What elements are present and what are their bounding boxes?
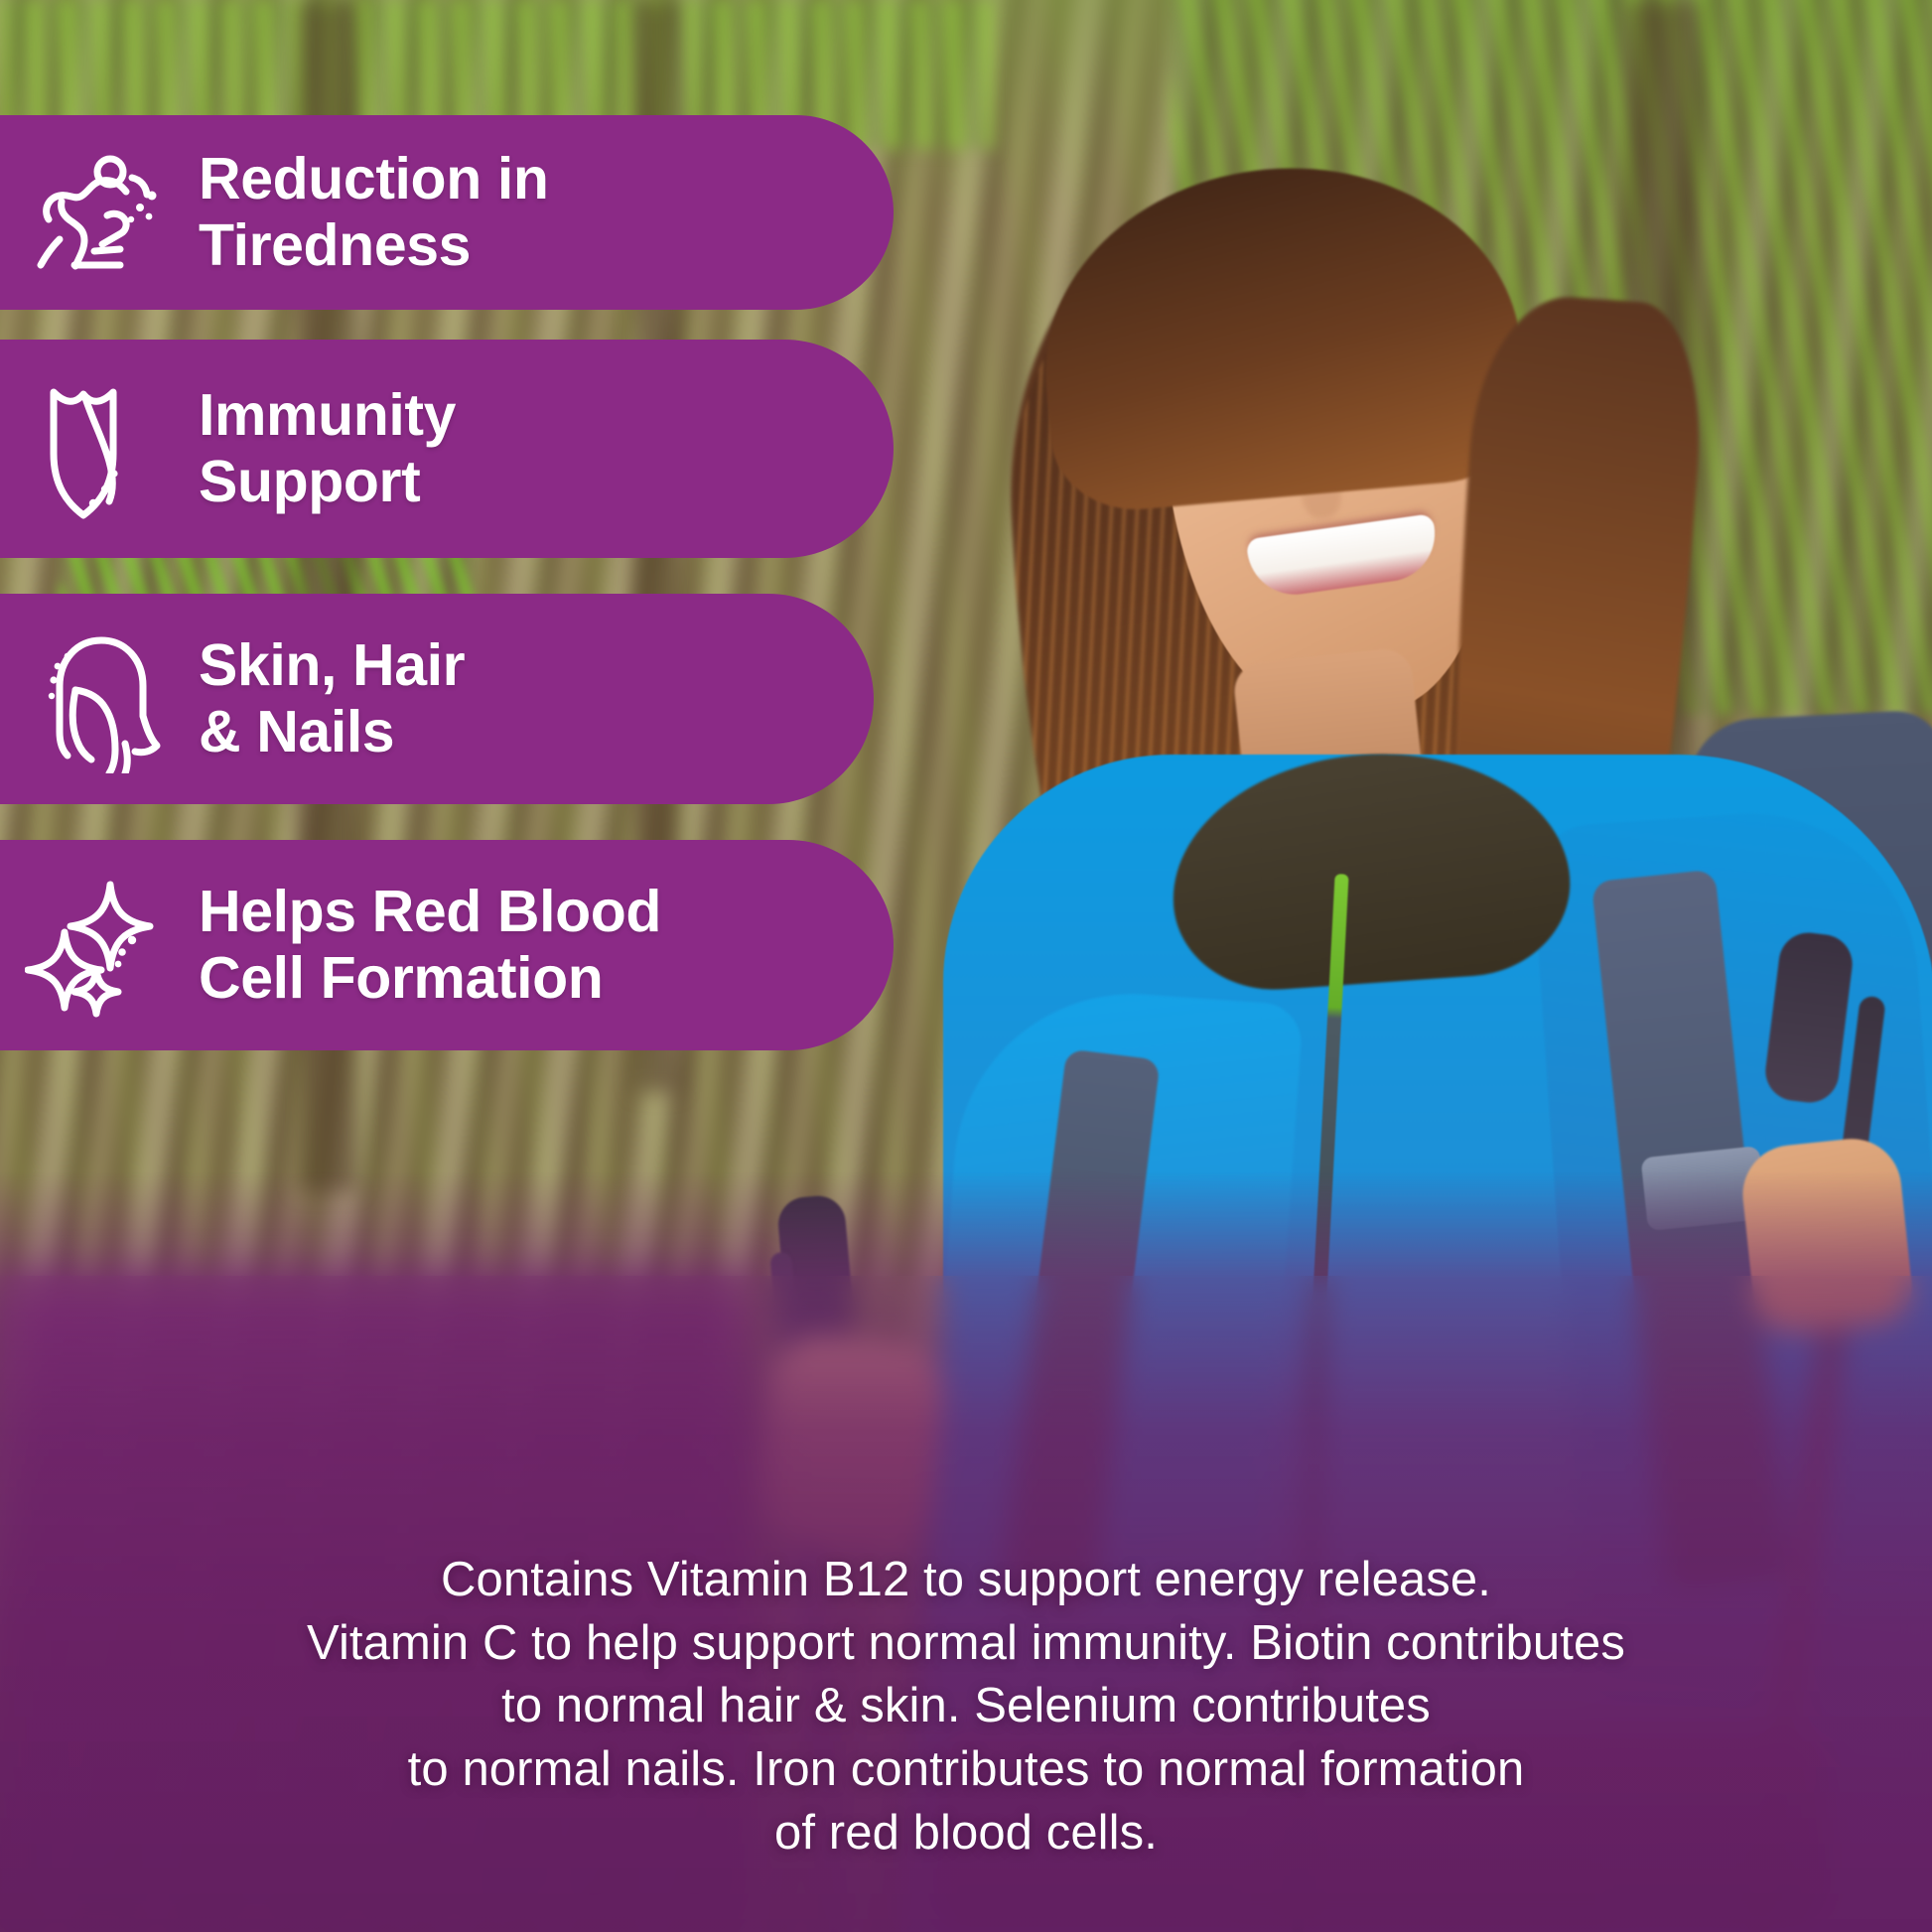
hair-face-icon bbox=[0, 624, 199, 773]
benefit-badge-label: Immunity Support bbox=[199, 382, 456, 516]
benefit-badge-label: Helps Red Blood Cell Formation bbox=[199, 879, 661, 1013]
benefit-badge-immunity-support[interactable]: Immunity Support bbox=[0, 340, 894, 558]
benefit-badge-helps-red-blood-cell-formation[interactable]: Helps Red Blood Cell Formation bbox=[0, 840, 894, 1050]
benefit-badge-reduction-in-tiredness[interactable]: Reduction in Tiredness bbox=[0, 115, 894, 310]
benefit-badge-label: Reduction in Tiredness bbox=[199, 146, 548, 280]
benefit-badge-skin-hair-nails[interactable]: Skin, Hair & Nails bbox=[0, 594, 874, 804]
sparkles-icon bbox=[0, 871, 199, 1020]
claims-paragraph: Contains Vitamin B12 to support energy r… bbox=[0, 1549, 1932, 1864]
benefit-badge-label: Skin, Hair & Nails bbox=[199, 632, 465, 766]
running-person-icon bbox=[0, 148, 199, 277]
hair-front bbox=[1030, 149, 1533, 517]
infographic-canvas: Reduction in Tiredness Immunity Support bbox=[0, 0, 1932, 1932]
shield-icon bbox=[0, 374, 199, 523]
